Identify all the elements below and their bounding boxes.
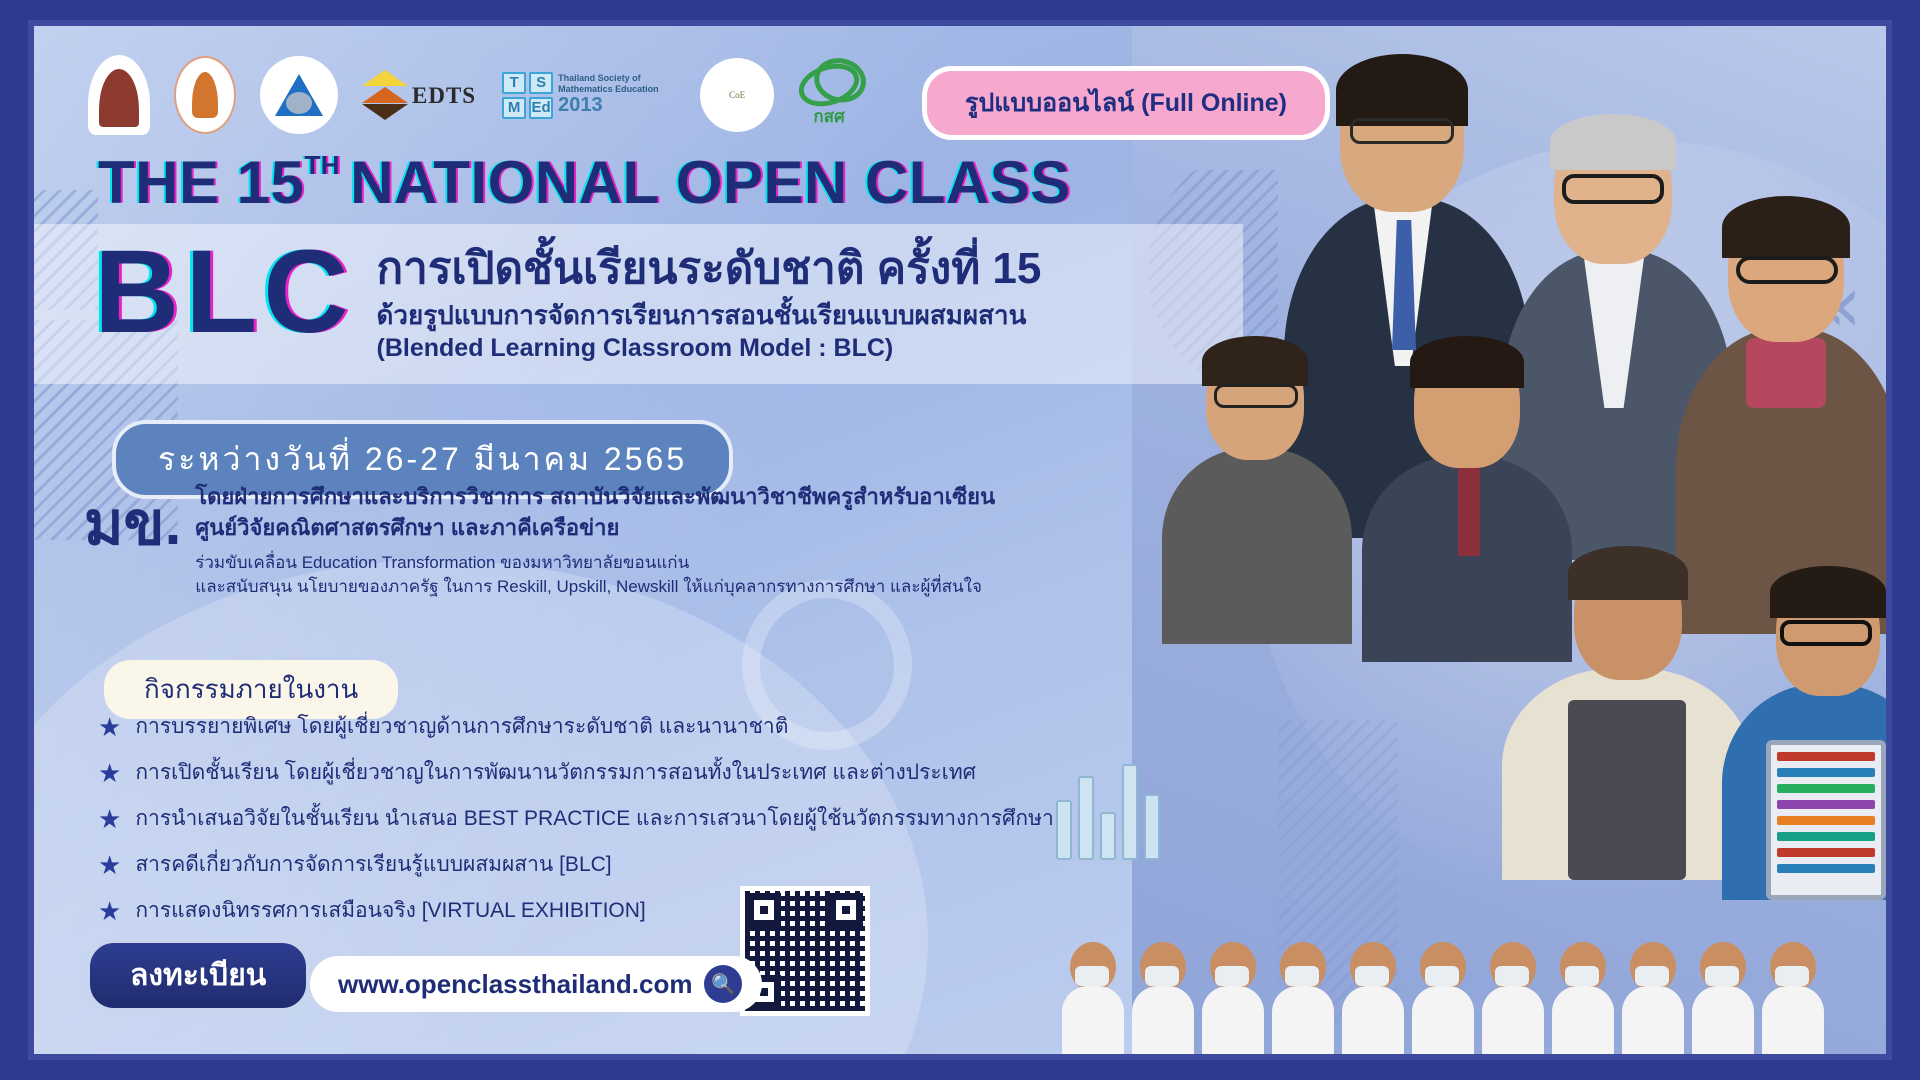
headline-main: THE 15 bbox=[98, 148, 304, 217]
tsme-letter-s: S bbox=[529, 72, 553, 94]
list-item: ★ การบรรยายพิเศษ โดยผู้เชี่ยวชาญด้านการศ… bbox=[98, 710, 1054, 743]
eyeglasses-icon bbox=[1350, 118, 1454, 144]
activity-text: การบรรยายพิเศษ โดยผู้เชี่ยวชาญด้านการศึก… bbox=[135, 710, 788, 743]
website-url: www.openclassthailand.com bbox=[338, 969, 692, 1000]
qr-code[interactable] bbox=[740, 886, 870, 1016]
eyeglasses-icon bbox=[1736, 256, 1838, 284]
list-item: ★ การแสดงนิทรรศการเสมือนจริง [VIRTUAL EX… bbox=[98, 894, 1054, 927]
register-button[interactable]: ลงทะเบียน bbox=[86, 939, 310, 1012]
organizer-block: มข. โดยฝ่ายการศึกษาและบริการวิชาการ สถาบ… bbox=[84, 482, 995, 600]
organizer-line-2: ศูนย์วิจัยคณิตศาสตรศึกษา และภาคีเครือข่า… bbox=[195, 513, 995, 544]
star-icon: ★ bbox=[98, 806, 121, 832]
logo-center-of-excellence: CoE bbox=[702, 60, 772, 130]
organizer-line-1: โดยฝ่ายการศึกษาและบริการวิชาการ สถาบันวิ… bbox=[195, 482, 995, 513]
list-item: ★ การนำเสนอวิจัยในชั้นเรียน นำเสนอ BEST … bbox=[98, 802, 1054, 835]
list-item: ★ สารคดีเกี่ยวกับการจัดการเรียนรู้แบบผสม… bbox=[98, 848, 1054, 881]
logo-university-oval-emblem bbox=[174, 56, 236, 134]
star-icon: ★ bbox=[98, 760, 121, 786]
activity-text: การเปิดชั้นเรียน โดยผู้เชี่ยวชาญในการพัฒ… bbox=[135, 756, 976, 789]
partner-logo-strip: EDTS T S M Ed Thailand Society of Mathem… bbox=[90, 56, 860, 134]
logo-kosor: กสศ bbox=[798, 65, 860, 125]
list-item: ★ การเปิดชั้นเรียน โดยผู้เชี่ยวชาญในการพ… bbox=[98, 756, 1054, 789]
activity-text: การนำเสนอวิจัยในชั้นเรียน นำเสนอ BEST PR… bbox=[135, 802, 1053, 835]
conference-poster: ‹‹‹ EDTS T S M Ed Thailand Society of Ma… bbox=[28, 20, 1892, 1060]
star-icon: ★ bbox=[98, 898, 121, 924]
organizer-line-4: และสนับสนุน นโยบายของภาครัฐ ในการ Reskil… bbox=[195, 575, 995, 600]
acronym-and-thai-title: BLC การเปิดชั้นเรียนระดับชาติ ครั้งที่ 1… bbox=[94, 238, 1041, 365]
students-photo-row bbox=[1032, 830, 1892, 1060]
logo-faculty-research-emblem bbox=[262, 58, 336, 132]
star-icon: ★ bbox=[98, 852, 121, 878]
edts-wordmark: EDTS bbox=[412, 84, 476, 107]
tsme-year: 2013 bbox=[558, 94, 676, 117]
kku-abbreviation: มข. bbox=[84, 482, 181, 554]
activities-list: ★ การบรรยายพิเศษ โดยผู้เชี่ยวชาญด้านการศ… bbox=[98, 710, 1054, 940]
activity-text: การแสดงนิทรรศการเสมือนจริง [VIRTUAL EXHI… bbox=[135, 894, 645, 927]
tsme-letter-ed: Ed bbox=[529, 97, 553, 119]
speaker-photo-collage bbox=[1032, 50, 1892, 1060]
eyeglasses-icon bbox=[1214, 384, 1298, 408]
tsme-letter-t: T bbox=[502, 72, 526, 94]
headline-ordinal-suffix: TH bbox=[304, 152, 340, 178]
qr-finder-top-left bbox=[747, 893, 781, 927]
thai-subtitle-2: (Blended Learning Classroom Model : BLC) bbox=[377, 332, 1042, 365]
eyeglasses-icon bbox=[1780, 620, 1872, 646]
blc-acronym: BLC bbox=[94, 238, 355, 347]
tsme-letter-m: M bbox=[502, 97, 526, 119]
speaker-portrait bbox=[1162, 340, 1352, 640]
thai-title: การเปิดชั้นเรียนระดับชาติ ครั้งที่ 15 bbox=[377, 244, 1042, 295]
organizer-line-3: ร่วมขับเคลื่อน Education Transformation … bbox=[195, 551, 995, 576]
page-title: THE 15 TH NATIONAL OPEN CLASS bbox=[98, 148, 1071, 217]
eyeglasses-icon bbox=[1562, 174, 1664, 204]
kosor-label: กสศ bbox=[813, 108, 844, 125]
activity-text: สารคดีเกี่ยวกับการจัดการเรียนรู้แบบผสมผส… bbox=[135, 848, 611, 881]
headline-rest: NATIONAL OPEN CLASS bbox=[350, 148, 1071, 217]
star-icon: ★ bbox=[98, 714, 121, 740]
qr-finder-top-right bbox=[829, 893, 863, 927]
online-format-badge: รูปแบบออนไลน์ (Full Online) bbox=[922, 66, 1330, 140]
website-link[interactable]: www.openclassthailand.com 🔍 bbox=[310, 956, 762, 1012]
logo-kku-emblem bbox=[90, 57, 148, 133]
thai-subtitle-1: ด้วยรูปแบบการจัดการเรียนการสอนชั้นเรียนแ… bbox=[377, 299, 1042, 333]
logo-tsme: T S M Ed Thailand Society of Mathematics… bbox=[502, 72, 676, 119]
search-icon[interactable]: 🔍 bbox=[704, 965, 742, 1003]
logo-edts: EDTS bbox=[362, 70, 476, 120]
tsme-full-name: Thailand Society of Mathematics Educatio… bbox=[558, 73, 676, 94]
